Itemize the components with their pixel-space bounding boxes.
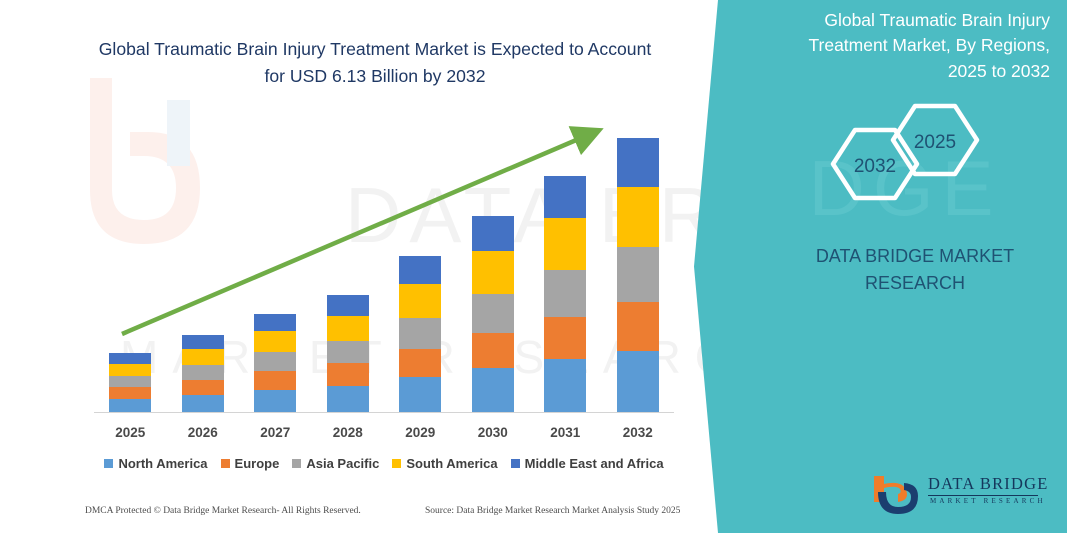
- bar-segment: [617, 187, 659, 247]
- bar-segment: [399, 349, 441, 377]
- data-bridge-mark-icon: [868, 472, 926, 516]
- bar-segment: [254, 390, 296, 412]
- chart-baseline: [94, 412, 674, 413]
- bar-segment: [109, 364, 151, 376]
- bar-column: [109, 353, 151, 412]
- legend-swatch-icon: [392, 459, 401, 468]
- legend-label: Asia Pacific: [306, 456, 379, 471]
- bar-segment: [327, 386, 369, 412]
- x-axis-label: 2030: [472, 425, 514, 440]
- bar-column: [327, 295, 369, 412]
- x-axis-label: 2028: [327, 425, 369, 440]
- bar-segment: [327, 295, 369, 316]
- legend-item[interactable]: Asia Pacific: [292, 456, 379, 471]
- legend-label: South America: [406, 456, 497, 471]
- bar-segment: [109, 353, 151, 364]
- bar-segment: [544, 317, 586, 359]
- footer-copyright: DMCA Protected © Data Bridge Market Rese…: [85, 506, 361, 516]
- bar-segment: [399, 318, 441, 349]
- legend-item[interactable]: Europe: [221, 456, 280, 471]
- bar-segment: [544, 176, 586, 218]
- hexagon-badges: 2025 2032: [815, 102, 995, 202]
- bar-segment: [109, 387, 151, 399]
- bar-segment: [472, 294, 514, 333]
- logo-divider: [928, 495, 1038, 496]
- bar-segment: [327, 316, 369, 341]
- bar-segment: [472, 251, 514, 294]
- bar-segment: [109, 399, 151, 412]
- infographic-page: DATA BRIDGE MARKET RESEARCH DGE Global T…: [0, 0, 1067, 533]
- legend-label: Europe: [235, 456, 280, 471]
- bar-segment: [182, 365, 224, 380]
- bar-segment: [472, 333, 514, 368]
- x-axis-label: 2031: [544, 425, 586, 440]
- bar-column: [617, 138, 659, 412]
- bar-column: [399, 256, 441, 412]
- bar-segment: [399, 256, 441, 284]
- bar-segment: [399, 284, 441, 318]
- hexagon-2032-label: 2032: [854, 156, 896, 177]
- x-axis-label: 2029: [399, 425, 441, 440]
- x-axis-labels: 20252026202720282029203020312032: [94, 420, 674, 444]
- bar-column: [544, 176, 586, 412]
- footer: DMCA Protected © Data Bridge Market Rese…: [85, 506, 675, 522]
- bar-segment: [327, 341, 369, 363]
- logo-tagline: MARKET RESEARCH: [930, 497, 1046, 505]
- legend-item[interactable]: North America: [104, 456, 207, 471]
- bar-segment: [254, 331, 296, 352]
- stacked-bar-chart: [94, 110, 674, 412]
- bar-segment: [182, 380, 224, 395]
- bar-segment: [544, 270, 586, 317]
- bar-segment: [399, 377, 441, 412]
- legend-item[interactable]: South America: [392, 456, 497, 471]
- hexagon-2025-label: 2025: [914, 132, 956, 153]
- bar-column: [254, 314, 296, 412]
- legend-swatch-icon: [292, 459, 301, 468]
- bar-segment: [182, 335, 224, 349]
- bar-segment: [617, 351, 659, 412]
- bar-segment: [617, 247, 659, 302]
- bar-column: [472, 216, 514, 412]
- bar-segment: [254, 352, 296, 371]
- x-axis-label: 2025: [109, 425, 151, 440]
- legend-swatch-icon: [221, 459, 230, 468]
- x-axis-label: 2026: [182, 425, 224, 440]
- bar-column: [182, 335, 224, 412]
- bar-segment: [472, 216, 514, 251]
- bar-segment: [327, 363, 369, 386]
- logo-name: DATA BRIDGE: [928, 474, 1049, 494]
- bar-segment: [254, 314, 296, 331]
- panel-heading: Global Traumatic Brain Injury Treatment …: [770, 8, 1050, 84]
- bar-segment: [544, 359, 586, 412]
- bar-segment: [544, 218, 586, 270]
- bar-segment: [182, 395, 224, 412]
- x-axis-label: 2032: [617, 425, 659, 440]
- panel-brand-text: DATA BRIDGE MARKET RESEARCH: [790, 243, 1040, 297]
- bar-segment: [109, 376, 151, 387]
- bar-segment: [472, 368, 514, 412]
- bar-segment: [617, 138, 659, 187]
- x-axis-label: 2027: [254, 425, 296, 440]
- chart-legend: North AmericaEuropeAsia PacificSouth Ame…: [94, 453, 674, 473]
- bar-segment: [182, 349, 224, 365]
- legend-label: Middle East and Africa: [525, 456, 664, 471]
- legend-label: North America: [118, 456, 207, 471]
- data-bridge-logo: DATA BRIDGE MARKET RESEARCH: [868, 470, 1043, 518]
- legend-swatch-icon: [104, 459, 113, 468]
- page-title: Global Traumatic Brain Injury Treatment …: [95, 36, 655, 89]
- legend-swatch-icon: [511, 459, 520, 468]
- bar-segment: [254, 371, 296, 390]
- legend-item[interactable]: Middle East and Africa: [511, 456, 664, 471]
- bar-segment: [617, 302, 659, 351]
- footer-source: Source: Data Bridge Market Research Mark…: [425, 506, 680, 516]
